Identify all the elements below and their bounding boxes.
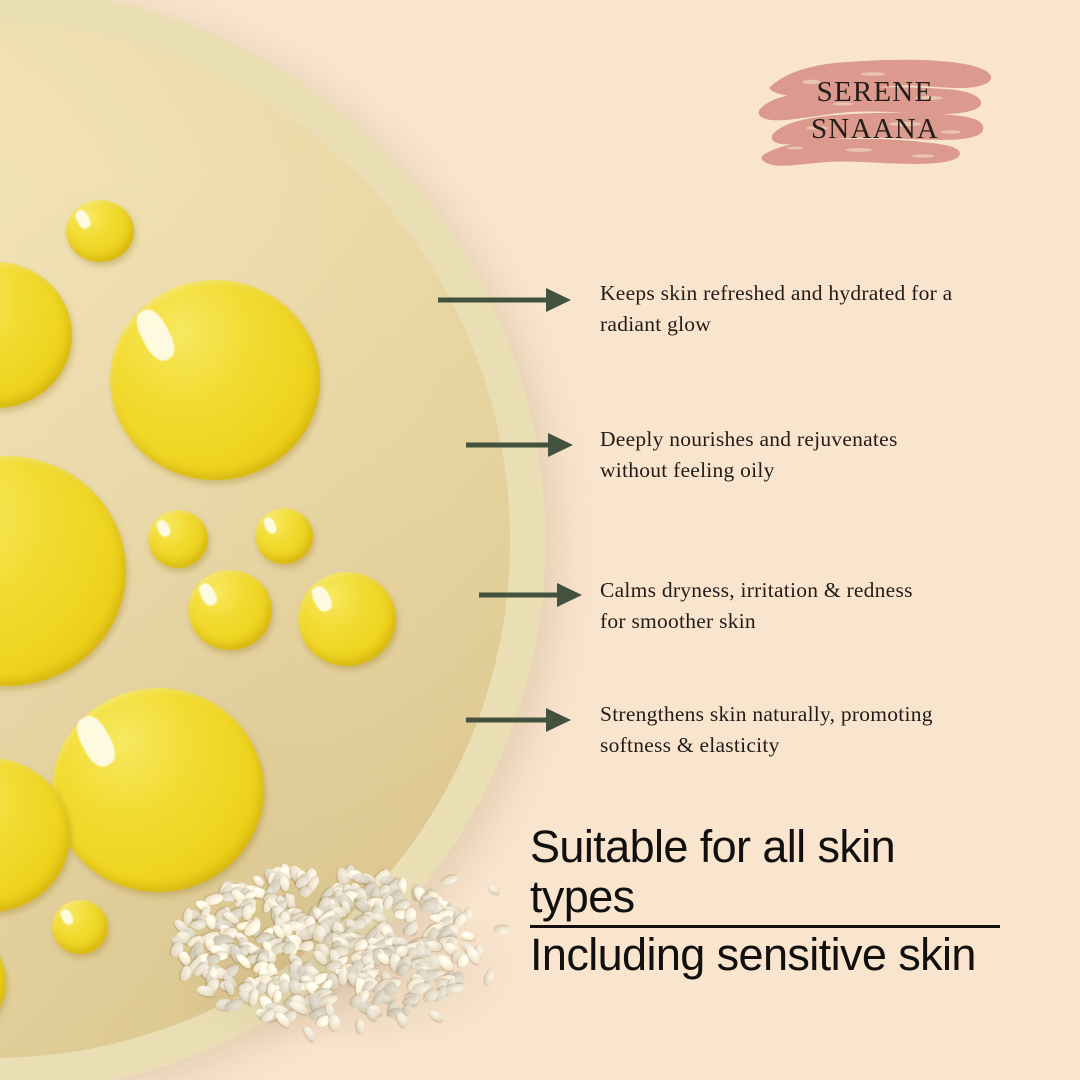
oil-droplet <box>255 508 313 564</box>
sesame-seed <box>494 925 509 935</box>
headline-line-2: Including sensitive skin <box>530 928 1000 980</box>
droplet-highlight <box>154 518 172 538</box>
oil-droplet <box>110 280 320 480</box>
sesame-seed <box>487 884 501 896</box>
seed-cluster <box>150 820 510 1050</box>
sesame-seed <box>440 873 459 886</box>
benefit-text-nourishment: Deeply nourishes and rejuvenates without… <box>600 424 1020 485</box>
sesame-seed <box>329 1014 342 1031</box>
droplet-highlight <box>130 305 179 365</box>
droplet-highlight <box>58 908 74 927</box>
sesame-seed <box>460 930 475 941</box>
sesame-seed <box>302 1024 318 1043</box>
sesame-seeds-pile <box>150 820 510 1050</box>
oil-droplet <box>298 572 396 666</box>
footer-headline: Suitable for all skin types Including se… <box>530 822 1000 980</box>
brand-logo: SERENE SNAANA <box>755 52 995 182</box>
sesame-seed <box>355 1018 364 1033</box>
oil-droplet <box>66 200 134 262</box>
benefit-text-calming: Calms dryness, irritation & redness for … <box>600 575 1020 636</box>
benefit-text-strength: Strengthens skin naturally, promoting so… <box>600 699 1020 760</box>
oil-droplet <box>0 758 70 912</box>
sesame-seed <box>428 1009 445 1024</box>
oil-droplet <box>188 570 272 650</box>
droplet-highlight <box>197 581 220 608</box>
headline-line-1: Suitable for all skin types <box>530 822 1000 928</box>
oil-droplet <box>52 900 108 954</box>
droplet-highlight <box>262 515 279 535</box>
benefit-arrow-2 <box>466 425 574 465</box>
benefit-text-hydration: Keeps skin refreshed and hydrated for a … <box>600 278 1020 339</box>
oil-droplet <box>0 262 72 408</box>
brand-logo-text: SERENE SNAANA <box>755 74 995 148</box>
droplet-highlight <box>71 711 120 771</box>
benefit-arrow-3 <box>479 575 583 615</box>
oil-droplet <box>148 510 208 568</box>
benefit-arrow-1 <box>438 280 572 320</box>
droplet-highlight <box>73 208 92 230</box>
oil-droplet <box>0 926 6 1038</box>
benefit-arrow-4 <box>466 700 572 740</box>
poster-canvas: SERENE SNAANA Keeps skin refreshed and h… <box>0 0 1080 1080</box>
sesame-seed <box>338 970 348 986</box>
oil-droplet <box>0 456 126 686</box>
droplet-highlight <box>308 584 334 615</box>
sesame-seed <box>242 905 253 921</box>
sesame-seed <box>484 969 496 986</box>
